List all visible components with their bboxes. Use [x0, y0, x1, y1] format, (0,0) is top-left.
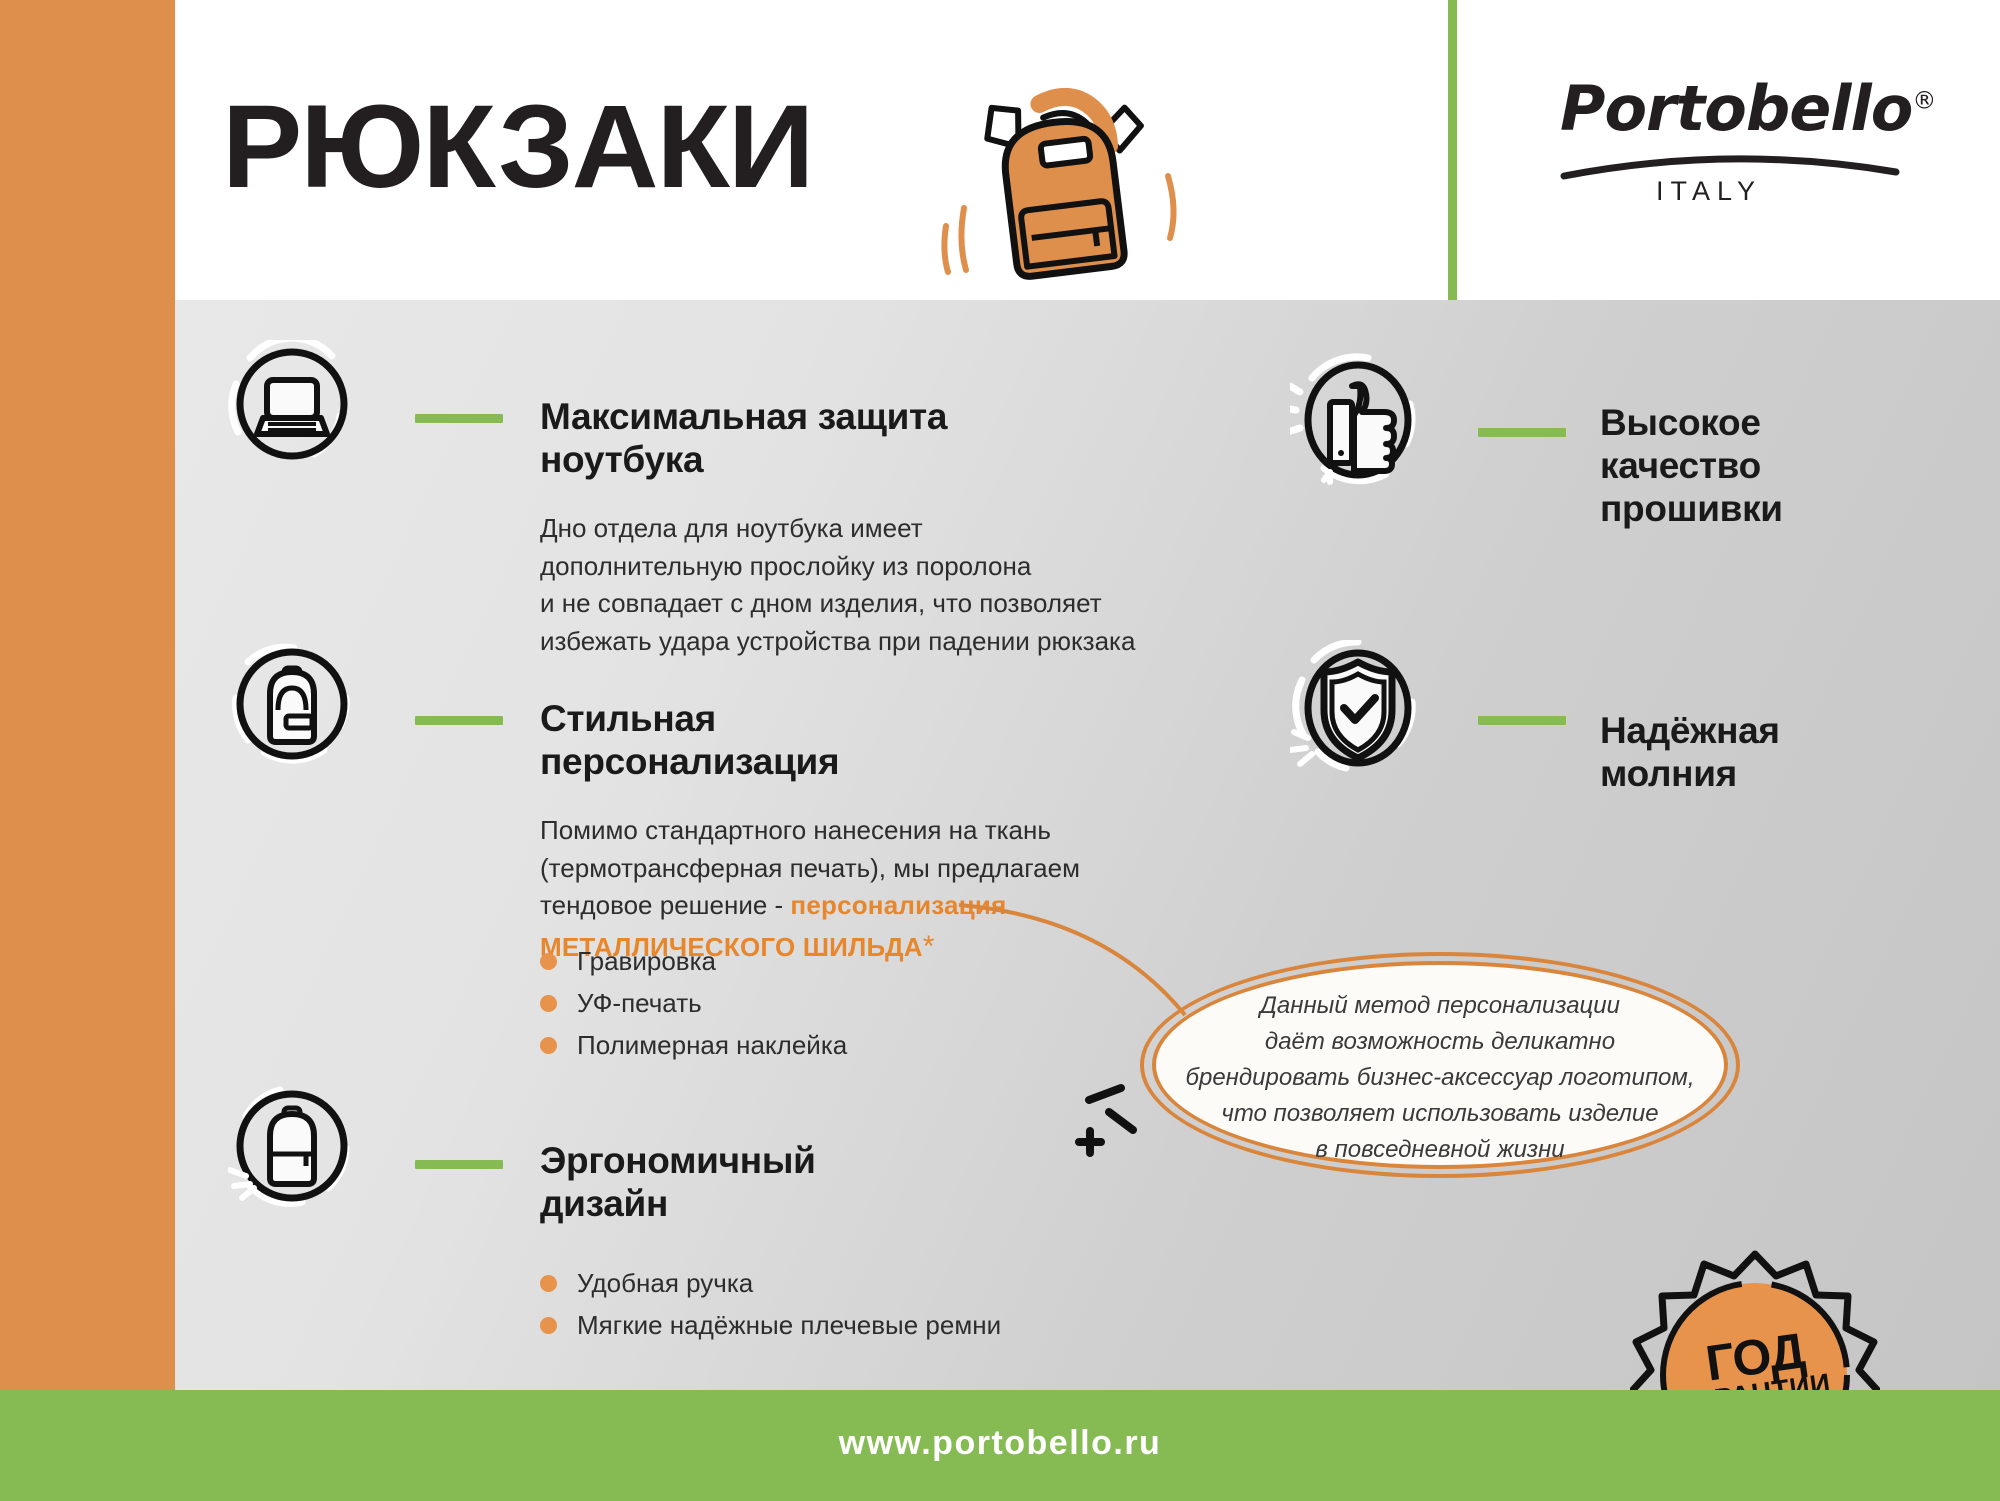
- left-orange-bar: [0, 0, 175, 1390]
- list-item-label: Мягкие надёжные плечевые ремни: [577, 1312, 1001, 1338]
- feature-title-ergonomic: Эргономичный дизайн: [540, 1140, 1100, 1226]
- feature-dash-2: [415, 716, 503, 725]
- bullet-dot-icon: [540, 1037, 557, 1054]
- infographic-page: РЮКЗАКИ Portobello® ITALY: [0, 0, 2000, 1501]
- bullet-dot-icon: [540, 1317, 557, 1334]
- callout-line: в повседневной жизни: [1180, 1132, 1700, 1168]
- logo-wordmark: Portobello®: [1560, 78, 1920, 140]
- backpack-zipper-icon: [228, 1082, 356, 1210]
- list-item-label: Гравировка: [577, 948, 716, 974]
- body-line: Дно отдела для ноутбука имеет: [540, 510, 1260, 548]
- backpack-illustration: [930, 58, 1190, 288]
- bullet-dot-icon: [540, 953, 557, 970]
- list-item-label: УФ-печать: [577, 990, 702, 1016]
- feature-title-quality: Высокое качество прошивки: [1600, 402, 2000, 531]
- list-item-label: Полимерная наклейка: [577, 1032, 847, 1058]
- callout-line: Данный метод персонализации: [1180, 988, 1700, 1024]
- laptop-icon: [228, 340, 356, 468]
- sparkle-decoration-icon: [1075, 1078, 1165, 1168]
- list-item: Удобная ручка: [540, 1270, 1180, 1296]
- feature-dash-1: [415, 414, 503, 423]
- feature-body-laptop: Дно отдела для ноутбука имеет дополнител…: [540, 510, 1260, 661]
- logo-country-label: ITALY: [1656, 176, 1762, 207]
- list-item-label: Удобная ручка: [577, 1270, 753, 1296]
- callout-bubble: Данный метод персонализации даёт возможн…: [1140, 952, 1740, 1178]
- list-item: Мягкие надёжные плечевые ремни: [540, 1312, 1180, 1338]
- body-line: (термотрансферная печать), мы предлагаем: [540, 850, 1300, 888]
- body-line: Помимо стандартного нанесения на ткань: [540, 812, 1300, 850]
- header-green-divider: [1448, 0, 1457, 300]
- backpack-nameplate-icon: [228, 640, 356, 768]
- body-line: дополнительную прослойку из поролона: [540, 548, 1260, 586]
- feature-title-laptop: Максимальная защита ноутбука: [540, 396, 1100, 482]
- callout-text: Данный метод персонализации даёт возможн…: [1180, 988, 1700, 1168]
- callout-line: брендировать бизнес-аксессуар логотипом,: [1180, 1060, 1700, 1096]
- page-title: РЮКЗАКИ: [222, 88, 812, 206]
- callout-line: что позволяет использовать изделие: [1180, 1096, 1700, 1132]
- feature-title-personalization: Стильная персонализация: [540, 698, 1100, 784]
- callout-line: даёт возможность деликатно: [1180, 1024, 1700, 1060]
- registered-trademark-icon: ®: [1912, 86, 1935, 114]
- thumbs-up-icon: [1290, 352, 1426, 488]
- feature-dash-5: [1478, 716, 1566, 725]
- feature-dash-3: [415, 1160, 503, 1169]
- bullet-list-ergonomic: Удобная ручка Мягкие надёжные плечевые р…: [540, 1270, 1180, 1354]
- bullet-dot-icon: [540, 995, 557, 1012]
- feature-dash-4: [1478, 428, 1566, 437]
- shield-check-icon: [1290, 640, 1426, 776]
- bullet-dot-icon: [540, 1275, 557, 1292]
- body-line: избежать удара устройства при падении рю…: [540, 623, 1260, 661]
- logo-word-text: Portobello: [1560, 72, 1912, 145]
- footer-website-url[interactable]: www.portobello.ru: [0, 1424, 2000, 1463]
- brand-logo: Portobello® ITALY: [1560, 78, 1920, 208]
- body-line-prefix: тендовое решение -: [540, 890, 790, 920]
- body-line: и не совпадает с дном изделия, что позво…: [540, 585, 1260, 623]
- feature-title-zipper: Надёжная молния: [1600, 710, 2000, 796]
